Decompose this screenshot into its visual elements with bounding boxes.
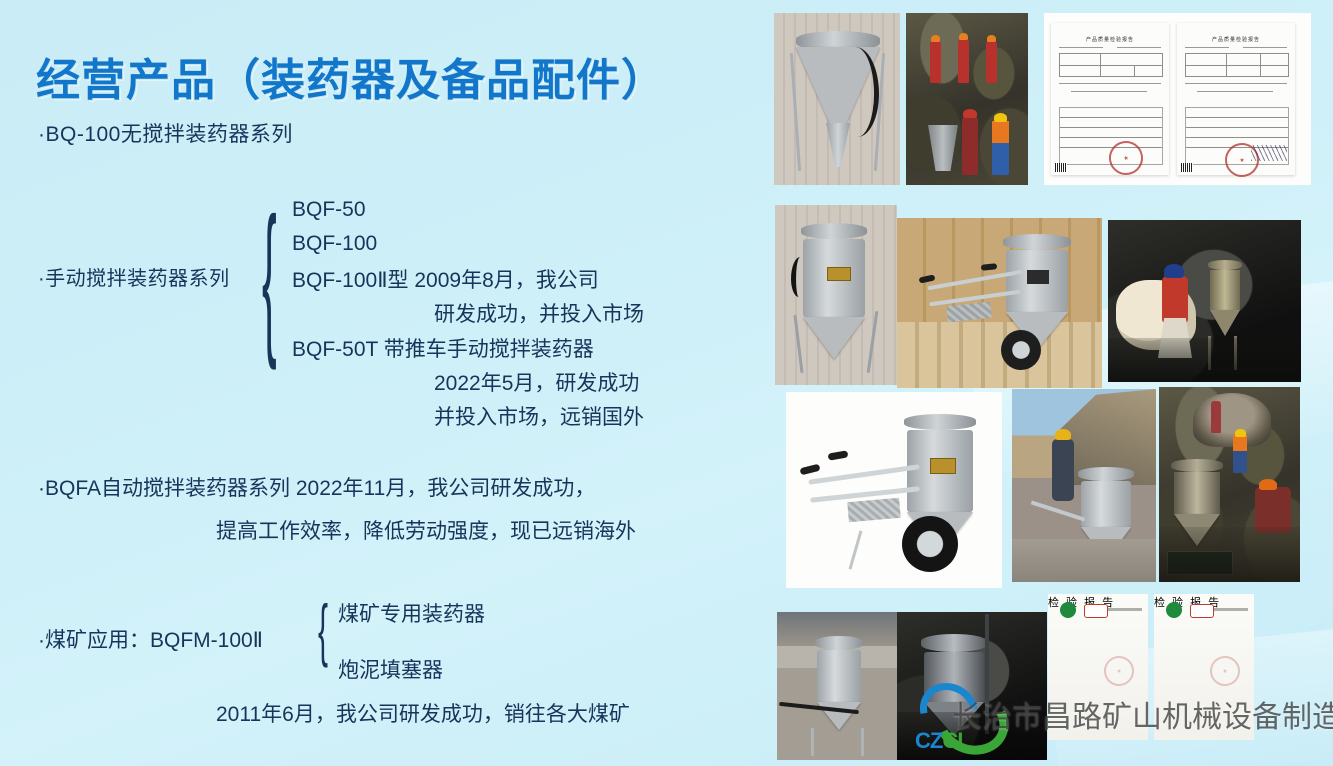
bullet-bqfa-series-cont: 提高工作效率，降低劳动强度，现已远销海外 (216, 515, 636, 545)
coal-item-charger: 煤矿专用装药器 (338, 598, 485, 628)
coal-note: 2011年6月，我公司研发成功，销往各大煤矿 (216, 698, 630, 728)
photo-charger-cart-studio (786, 392, 1002, 588)
doc-title-right: 产品质量检验报告 (1177, 36, 1295, 43)
brace-manual-group: { (262, 196, 277, 364)
photo-charger-yard (777, 612, 897, 760)
manual-item-bqf100: BQF-100 (292, 232, 377, 256)
slide-canvas: 经营产品（装药器及备品配件） ·BQ-100无搅拌装药器系列 ·手动搅拌装药器系… (0, 0, 1333, 766)
manual-item-bqf100ii: BQF-100Ⅱ型 2009年8月，我公司 (292, 264, 599, 294)
photo-grid: 产品质量检验报告 产品 (770, 0, 1333, 766)
manual-item-bqf50: BQF-50 (292, 198, 366, 222)
text-column: 经营产品（装药器及备品配件） ·BQ-100无搅拌装药器系列 ·手动搅拌装药器系… (0, 0, 775, 766)
photo-worker-mountain-road (1012, 389, 1156, 582)
certification-logo-pac (1084, 604, 1108, 618)
doc-inspection-form-right: 产品质量检验报告 (1177, 23, 1295, 175)
manual-item-bqf50t: BQF-50T 带推车手动搅拌装药器 (292, 333, 594, 363)
page-title: 经营产品（装药器及备品配件） (36, 44, 666, 108)
bullet-manual-series-label: ·手动搅拌装药器系列 (38, 262, 230, 291)
photo-charger-indoor (775, 205, 897, 385)
certification-logo-msa (1060, 602, 1076, 618)
bullet-coal-label: ·煤矿应用：BQFM-100Ⅱ (38, 624, 263, 654)
photo-inspection-forms: 产品质量检验报告 产品 (1044, 13, 1311, 185)
certification-logo-pac-2 (1190, 604, 1214, 618)
bullet-bqfa-series: ·BQFA自动搅拌装药器系列 2022年11月，我公司研发成功， (38, 472, 595, 502)
manual-item-bqf50t-cont2: 并投入市场，远销国外 (434, 401, 644, 431)
manual-item-bqf50t-cont1: 2022年5月，研发成功 (434, 367, 639, 397)
company-watermark: 长治市昌路矿山机械设备制造有限公司 (952, 692, 1333, 736)
photo-charger-white-room (774, 13, 900, 185)
photo-worker-underground (1108, 220, 1301, 382)
bullet-bq100-series: ·BQ-100无搅拌装药器系列 (38, 118, 293, 148)
coal-item-stemming: 炮泥填塞器 (338, 654, 443, 684)
manual-item-bqf100ii-cont: 研发成功，并投入市场 (434, 298, 644, 328)
photo-tunnel-charging (1159, 387, 1300, 582)
brace-coal-group: { (318, 598, 328, 667)
certification-logo-msa-2 (1166, 602, 1182, 618)
doc-inspection-form-left: 产品质量检验报告 (1051, 23, 1169, 175)
doc-title-left: 产品质量检验报告 (1051, 36, 1169, 43)
photo-charger-cart-crate (897, 218, 1102, 388)
photo-tunnel-workers (906, 13, 1028, 185)
logo-cz: CZ (915, 728, 942, 753)
